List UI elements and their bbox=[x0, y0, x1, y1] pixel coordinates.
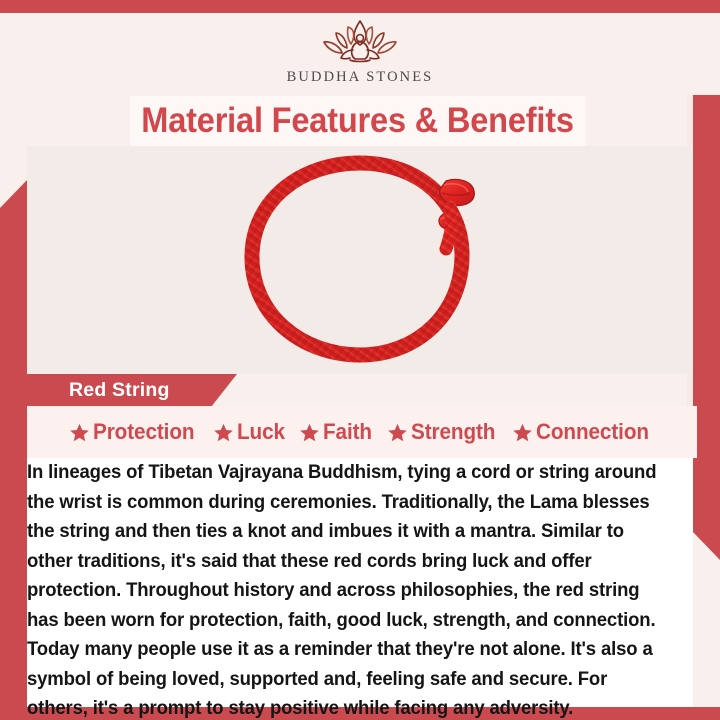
star-icon bbox=[213, 422, 234, 443]
left-border-band bbox=[0, 180, 27, 707]
product-label: Red String bbox=[69, 379, 170, 402]
product-label-banner: Red String bbox=[27, 374, 237, 406]
feature-label: Protection bbox=[93, 419, 194, 445]
title-banner: Material Features & Benefits bbox=[130, 96, 586, 146]
brand-name: BUDDHA STONES bbox=[287, 69, 434, 86]
description-panel: In lineages of Tibetan Vajrayana Buddhis… bbox=[27, 458, 693, 707]
star-icon bbox=[387, 422, 408, 443]
feature-item-protection: Protection bbox=[69, 419, 203, 445]
brand-header: BUDDHA STONES bbox=[0, 13, 720, 95]
red-braided-cord-bracelet bbox=[210, 151, 510, 369]
infographic-card: BUDDHA STONES Material Features & Benefi… bbox=[0, 0, 720, 720]
feature-item-strength: Strength bbox=[387, 419, 503, 445]
lotus-meditation-icon bbox=[314, 17, 406, 67]
feature-item-connection: Connection bbox=[512, 419, 659, 445]
feature-label: Strength bbox=[411, 419, 495, 445]
page-title: Material Features & Benefits bbox=[142, 101, 575, 141]
feature-list: Protection Luck Faith Strength Connectio bbox=[27, 406, 697, 458]
star-icon bbox=[299, 422, 320, 443]
star-icon bbox=[512, 422, 533, 443]
description-text: In lineages of Tibetan Vajrayana Buddhis… bbox=[27, 458, 663, 720]
top-border-band bbox=[0, 0, 720, 13]
feature-label: Luck bbox=[237, 419, 285, 445]
product-image-stage bbox=[27, 146, 693, 374]
feature-label: Faith bbox=[323, 419, 372, 445]
brand-logo: BUDDHA STONES bbox=[0, 13, 720, 86]
feature-item-faith: Faith bbox=[299, 419, 376, 445]
star-icon bbox=[69, 422, 90, 443]
feature-item-luck: Luck bbox=[213, 419, 289, 445]
feature-label: Connection bbox=[536, 419, 649, 445]
